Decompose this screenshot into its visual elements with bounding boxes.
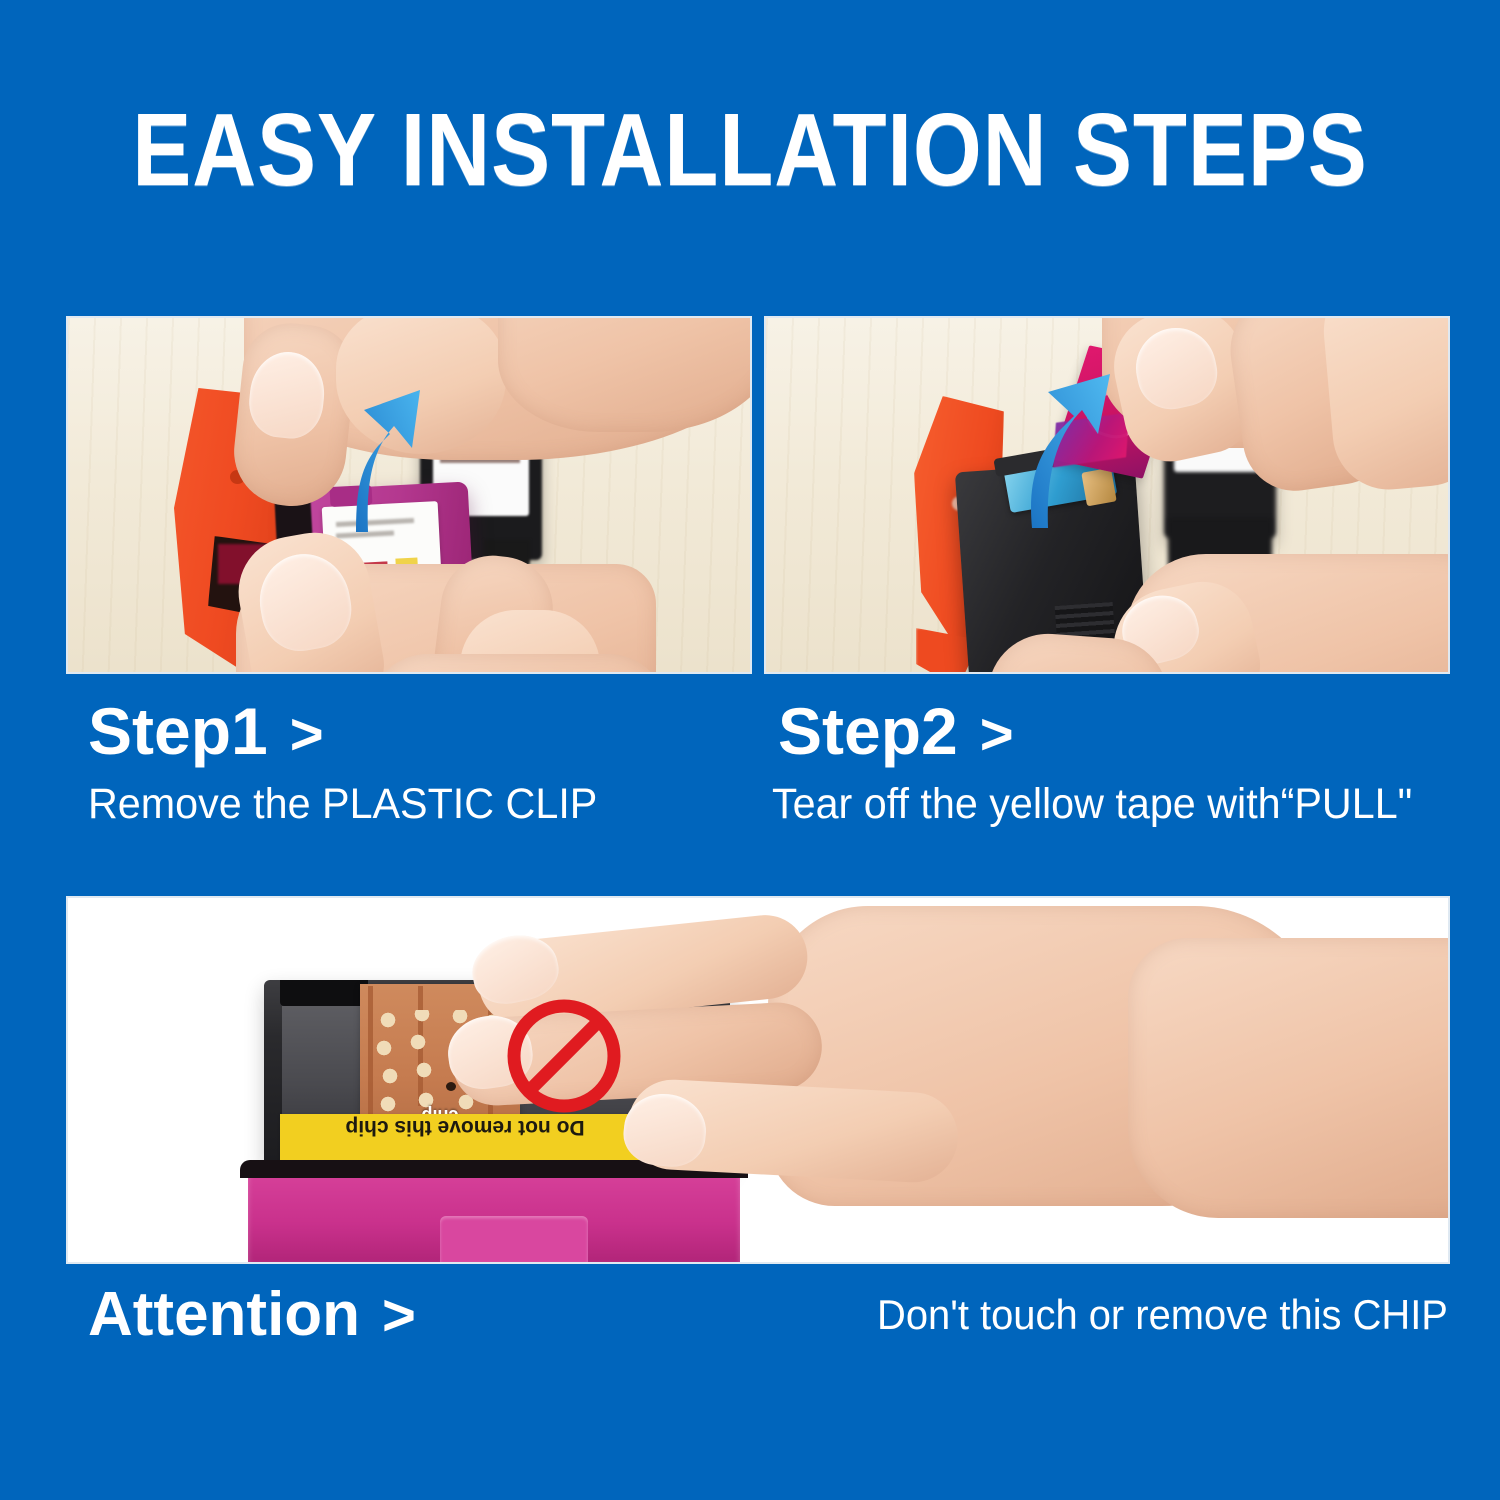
attention-photo: Don't remove this chip Do not remove thi… [68, 898, 1448, 1262]
chip-center-hole [446, 1082, 456, 1091]
step1-caption: Remove the PLASTIC CLIP [88, 780, 597, 828]
page-title: EASY INSTALLATION STEPS [105, 95, 1395, 205]
step1-chevron-icon: > [268, 702, 324, 767]
poster-root: EASY INSTALLATION STEPS [0, 0, 1500, 1500]
step1-photo [68, 318, 750, 672]
finger-bottom-3 [368, 654, 668, 672]
hand-top-right-mass [498, 318, 750, 432]
step2-label-text: Step2 [778, 694, 958, 768]
step1-label-text: Step1 [88, 694, 268, 768]
blue-arrow-up-icon [294, 364, 434, 534]
magenta-base-tab [440, 1216, 588, 1262]
no-entry-icon [502, 994, 626, 1118]
wrist [1128, 938, 1448, 1218]
step2-caption: Tear off the yellow tape with“PULL" [772, 780, 1412, 828]
cartridge-top-notch-left [280, 980, 368, 1006]
attention-label-text: Attention [88, 1280, 360, 1349]
step2-photo [766, 318, 1448, 672]
attention-caption: Don't touch or remove this CHIP [877, 1292, 1448, 1338]
attention-label: Attention> [88, 1280, 416, 1351]
blue-arrow-up-icon [978, 362, 1128, 532]
yellow-warning-label-text: Do not remove this chip [286, 1116, 644, 1139]
step1-label: Step1> [88, 696, 324, 770]
attention-chevron-icon: > [360, 1283, 416, 1348]
step2-chevron-icon: > [958, 702, 1014, 767]
step2-label: Step2> [778, 696, 1014, 770]
